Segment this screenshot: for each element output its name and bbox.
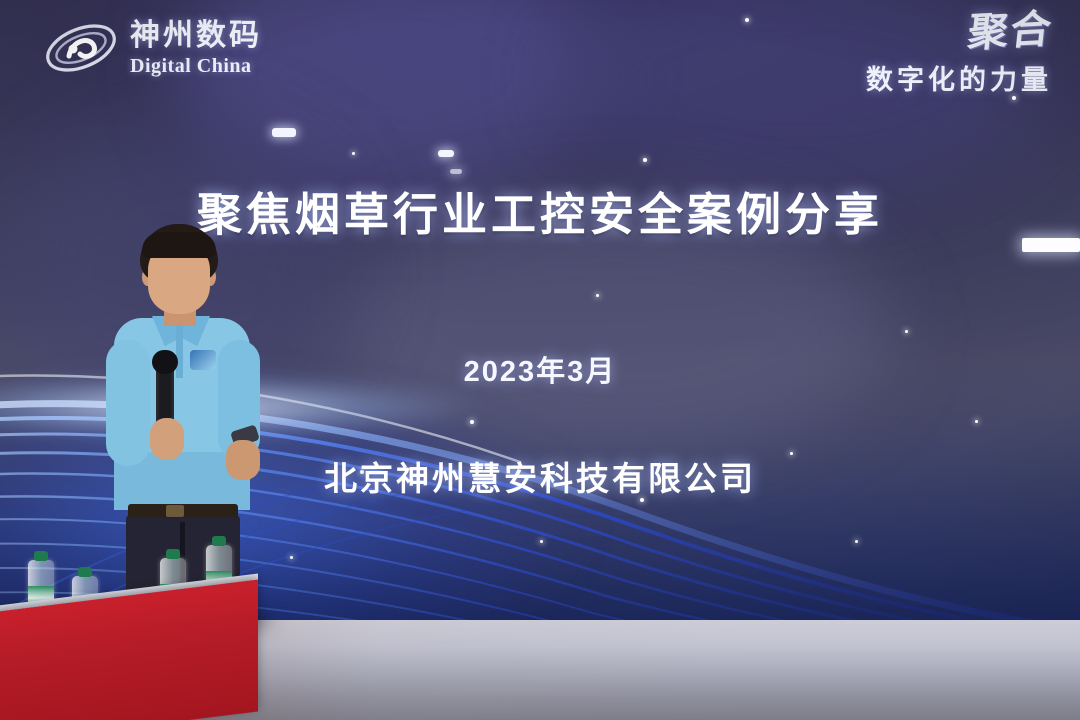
speaker-hand-on-mic (150, 418, 184, 460)
speaker-arm-left (106, 340, 150, 466)
belt-buckle (166, 505, 184, 517)
speaker-figure (92, 222, 282, 622)
polo-placket (176, 326, 183, 378)
speaker-hair-fringe (142, 232, 216, 258)
shirt-chest-logo (190, 350, 216, 370)
speaker-hand-with-clicker (226, 440, 260, 480)
conference-stage-photo: 神州数码 Digital China 聚合 数字化的力量 聚焦烟草行业工控安全案… (0, 0, 1080, 720)
microphone-head (152, 350, 178, 374)
